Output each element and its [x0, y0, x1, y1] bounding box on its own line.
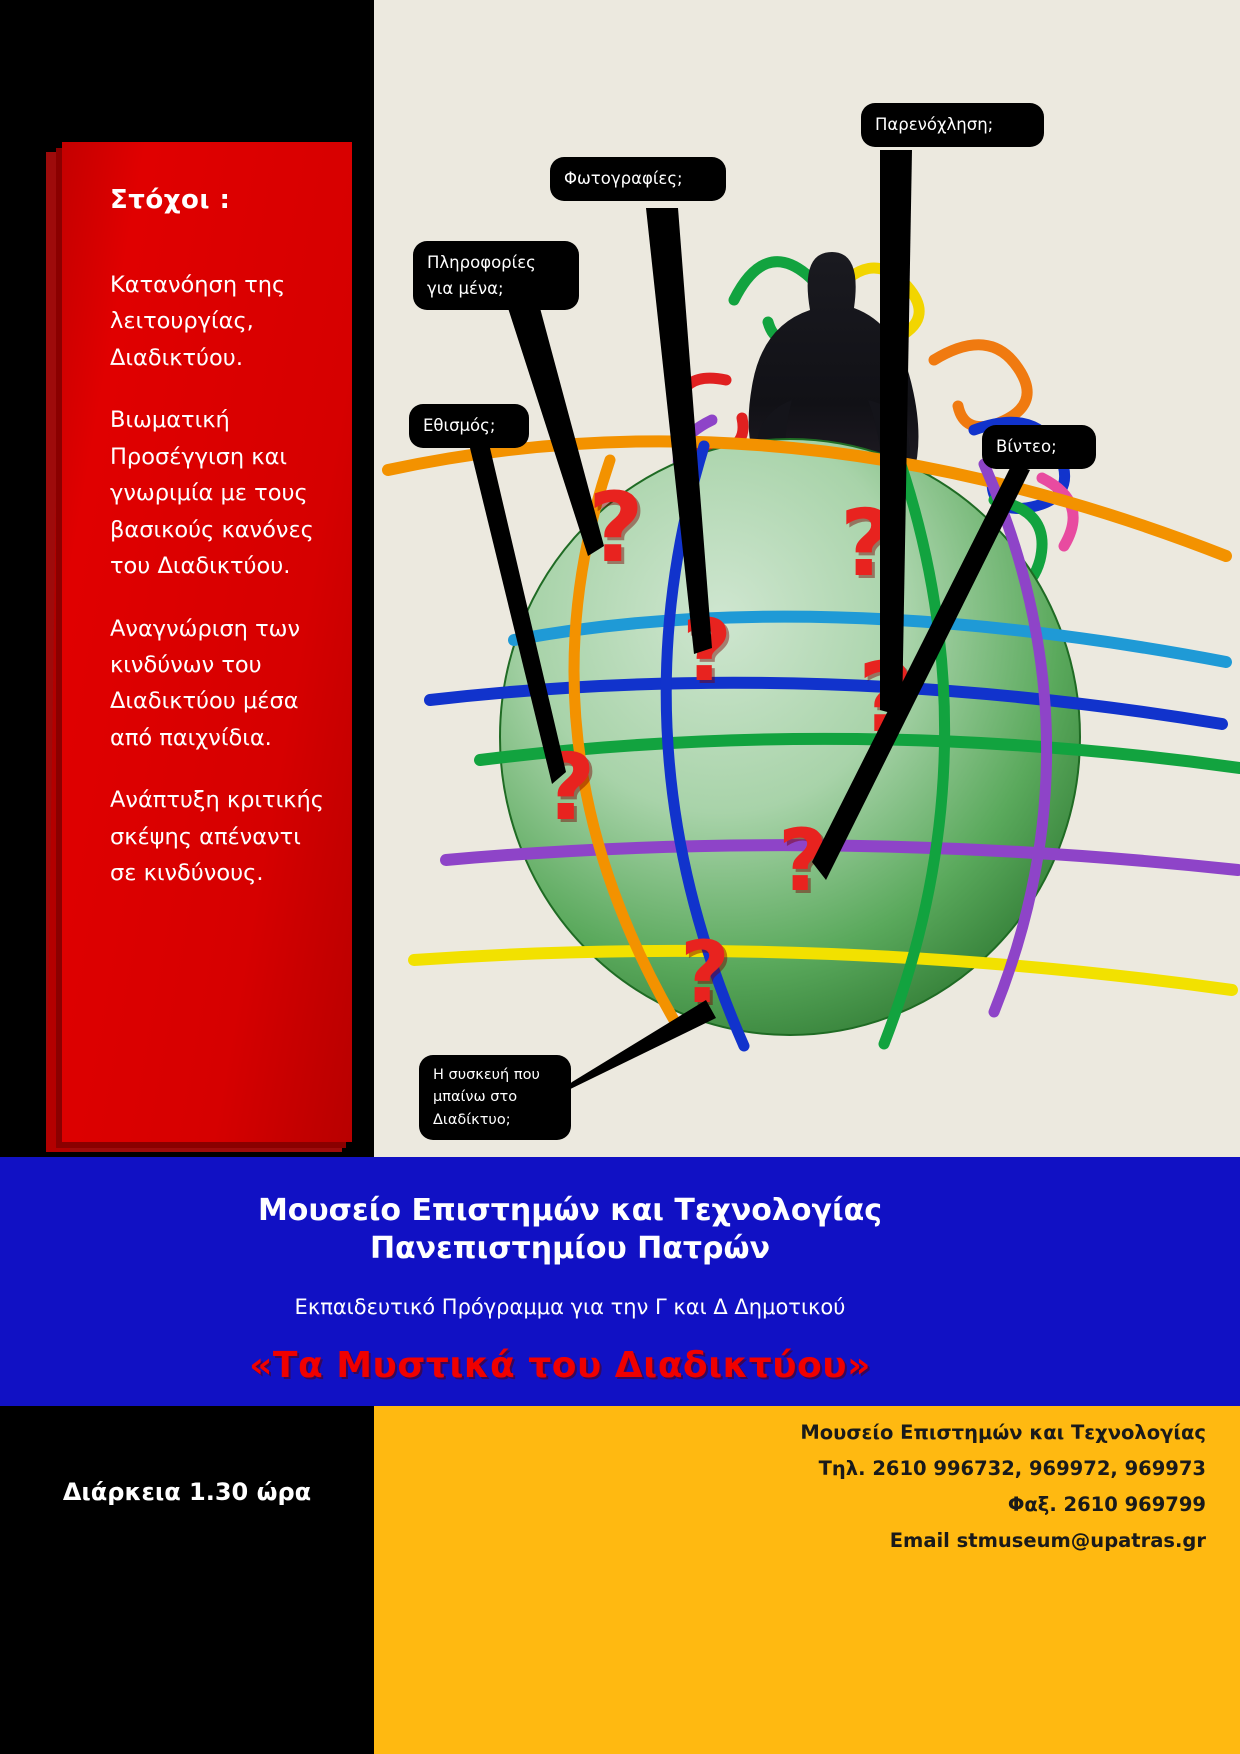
organisation-line-2: Πανεπιστημίου Πατρών [20, 1230, 1120, 1268]
organisation-name: Μουσείο Επιστημών και Τεχνολογίας Πανεπι… [20, 1192, 1120, 1269]
contact-details: Μουσείο Επιστημών και Τεχνολογίας Τηλ. 2… [506, 1415, 1206, 1559]
objective-item: Ανάπτυξη κριτικής σκέψης απέναντι σε κιν… [110, 782, 325, 891]
contact-email[interactable]: Email stmuseum@upatras.gr [506, 1523, 1206, 1559]
bubble-fotografies[interactable]: Φωτογραφίες; [550, 157, 726, 201]
bubble-syskevi[interactable]: Η συσκευή που μπαίνω στο Διαδίκτυο; [419, 1055, 571, 1140]
question-mark: ? [840, 498, 893, 590]
bubble-plirofories[interactable]: Πληροφορίες για μένα; [413, 241, 579, 310]
contact-fax: Φαξ. 2610 969799 [506, 1487, 1206, 1523]
question-mark: ? [680, 930, 730, 1016]
illustration-panel: ? ? ? ? ? ? ? [374, 0, 1240, 1157]
poster-root: ? ? ? ? ? ? ? Εθισμός; Πληροφορίες για μ… [0, 0, 1240, 1754]
organisation-line-1: Μουσείο Επιστημών και Τεχνολογίας [20, 1192, 1120, 1230]
duration-label: Διάρκεια 1.30 ώρα [0, 1478, 374, 1506]
question-mark: ? [778, 818, 828, 904]
question-mark: ? [542, 742, 595, 834]
bubble-ethismos[interactable]: Εθισμός; [409, 404, 529, 448]
question-mark: ? [682, 608, 732, 694]
contact-phone: Τηλ. 2610 996732, 969972, 969973 [506, 1451, 1206, 1487]
globe-illustration [374, 0, 1240, 1157]
program-subtitle: Εκπαιδευτικό Πρόγραμμα για την Γ και Δ Δ… [20, 1295, 1120, 1319]
contact-org: Μουσείο Επιστημών και Τεχνολογίας [506, 1415, 1206, 1451]
objective-item: Βιωματική Προσέγγιση και γνωριμία με του… [110, 402, 325, 584]
objective-item: Κατανόηση της λειτουργίας, Διαδικτύου. [110, 267, 325, 376]
question-mark: ? [858, 650, 914, 746]
objectives-title: Στόχοι : [110, 185, 325, 215]
program-title: «Τα Μυστικά του Διαδικτύου» [0, 1345, 1120, 1386]
objectives-content: Στόχοι : Κατανόηση της λειτουργίας, Διαδ… [110, 185, 325, 918]
question-mark: ? [588, 480, 644, 576]
bubble-parenoxlisi[interactable]: Παρενόχληση; [861, 103, 1044, 147]
objective-item: Αναγνώριση των κινδύνων του Διαδικτύου μ… [110, 611, 325, 757]
bubble-vinteo[interactable]: Βίντεο; [982, 425, 1096, 469]
